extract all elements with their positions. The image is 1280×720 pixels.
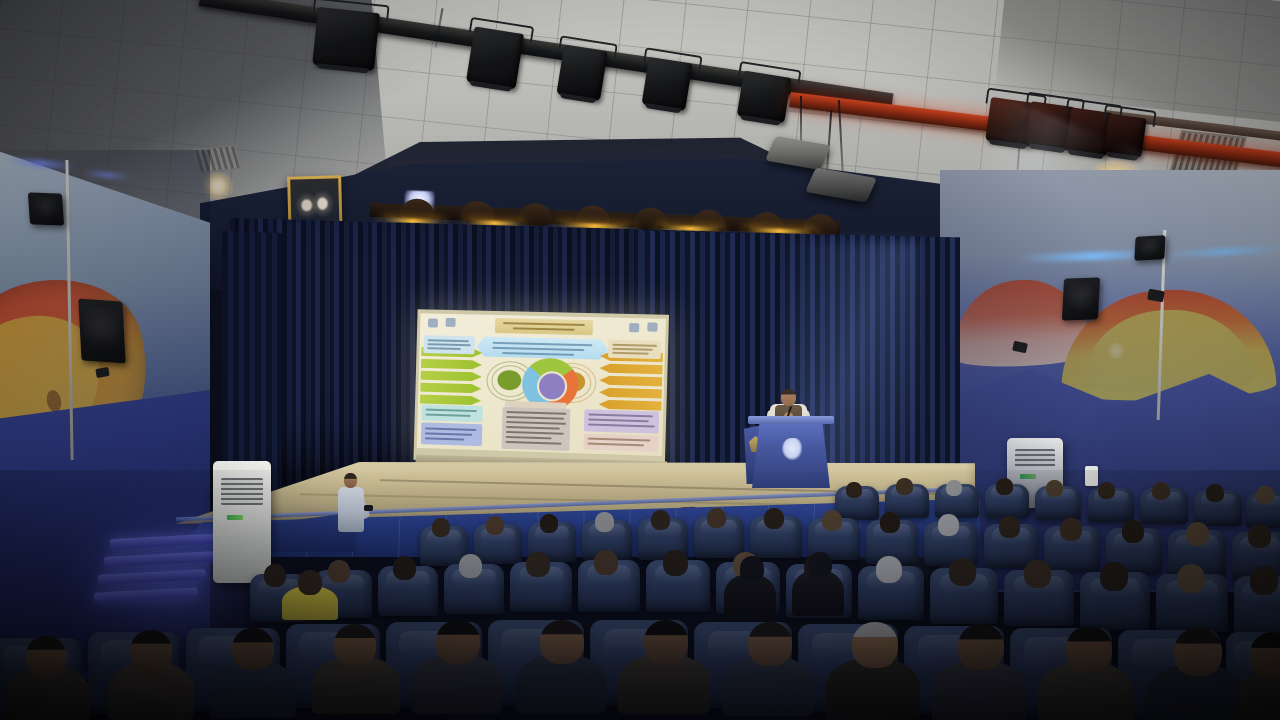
auditorium-photo: Conference presentation in a university … bbox=[0, 0, 1280, 720]
photo-grain bbox=[0, 0, 1280, 720]
